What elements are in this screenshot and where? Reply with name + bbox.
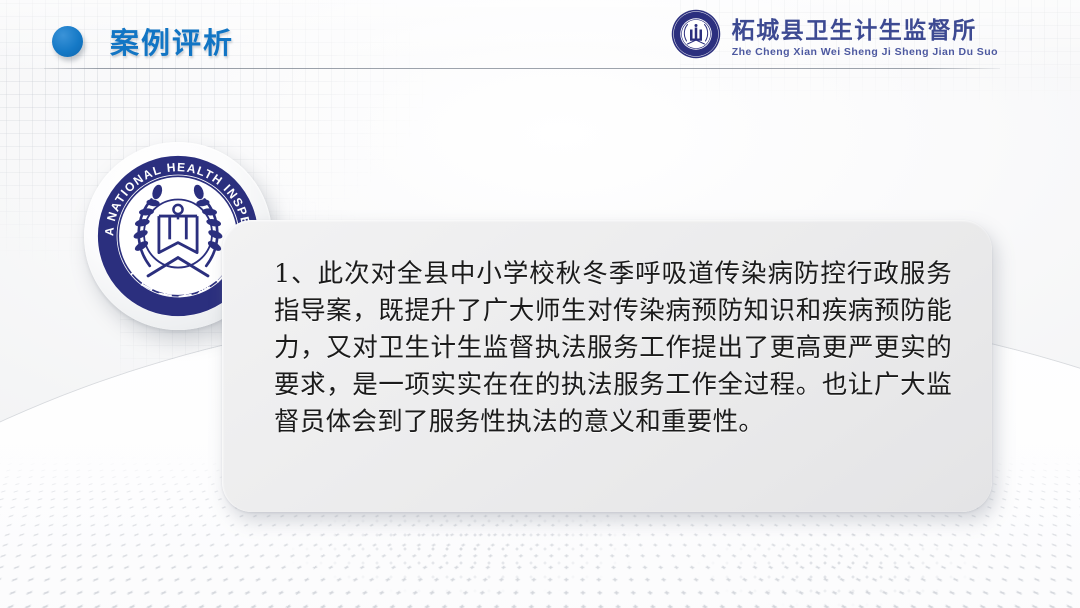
organization-block: 柘城县卫生计生监督所 Zhe Cheng Xian Wei Sheng Ji S…: [671, 9, 998, 59]
title-bullet-icon: [52, 26, 83, 57]
content-card: 1、此次对全县中小学校秋冬季呼吸道传染病防控行政服务指导案，既提升了广大师生对传…: [222, 220, 992, 512]
case-analysis-paragraph: 1、此次对全县中小学校秋冬季呼吸道传染病防控行政服务指导案，既提升了广大师生对传…: [274, 256, 952, 441]
slide-header: 案例评析: [0, 0, 1080, 80]
organization-name-pinyin: Zhe Cheng Xian Wei Sheng Ji Sheng Jian D…: [732, 46, 998, 58]
china-national-health-inspection-seal-icon: [671, 9, 721, 59]
slide-canvas: 案例评析: [0, 0, 1080, 608]
page-title: 案例评析: [110, 20, 234, 62]
organization-names: 柘城县卫生计生监督所 Zhe Cheng Xian Wei Sheng Ji S…: [732, 11, 998, 58]
organization-name-cn: 柘城县卫生计生监督所: [732, 11, 998, 45]
background-dot-cluster: [230, 500, 1010, 608]
header-divider: [44, 68, 1000, 69]
